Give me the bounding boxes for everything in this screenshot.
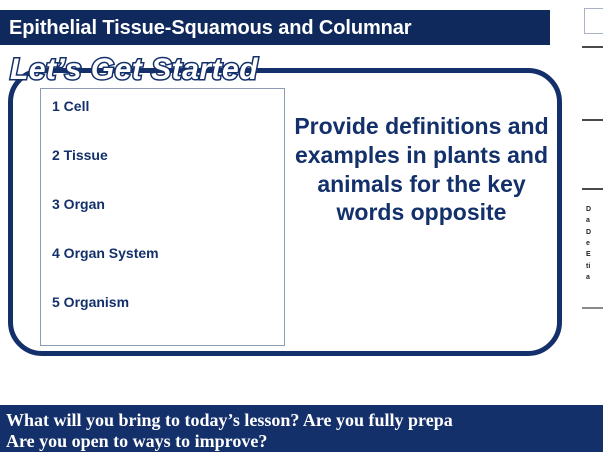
side-panel-box	[584, 8, 603, 34]
list-item: 3 Organ	[52, 197, 284, 211]
list-item: 4 Organ System	[52, 246, 284, 260]
list-item: 2 Tissue	[52, 148, 284, 162]
side-panel-text-line: e	[586, 238, 603, 249]
slide-canvas: Epithelial Tissue-Squamous and Columnar …	[0, 0, 603, 452]
side-panel-text-line: D	[586, 227, 603, 238]
list-item: 5 Organism	[52, 295, 284, 309]
slide-title-bar: Epithelial Tissue-Squamous and Columnar	[0, 10, 550, 45]
list-item: 1 Cell	[52, 99, 284, 113]
side-panel-divider	[582, 119, 603, 121]
side-panel: D a D e E ti a	[570, 0, 603, 452]
side-panel-divider	[582, 307, 603, 309]
banner-line-2: Are you open to ways to improve?	[6, 431, 603, 452]
side-panel-text-line: a	[586, 215, 603, 226]
side-panel-text-line: D	[586, 204, 603, 215]
side-panel-divider	[582, 188, 603, 190]
keywords-list-box: 1 Cell 2 Tissue 3 Organ 4 Organ System 5…	[40, 88, 285, 346]
side-panel-text: D a D e E ti a	[586, 204, 603, 283]
bottom-banner: What will you bring to today’s lesson? A…	[0, 405, 603, 452]
side-panel-text-line: ti	[586, 261, 603, 272]
side-panel-text-line: a	[586, 272, 603, 283]
instruction-text: Provide definitions and examples in plan…	[294, 112, 549, 227]
side-panel-text-line: E	[586, 249, 603, 260]
section-heading: Let’s Get Started	[10, 55, 258, 85]
side-panel-divider	[582, 46, 603, 48]
page-title: Epithelial Tissue-Squamous and Columnar	[9, 18, 411, 38]
banner-line-1: What will you bring to today’s lesson? A…	[6, 410, 603, 431]
